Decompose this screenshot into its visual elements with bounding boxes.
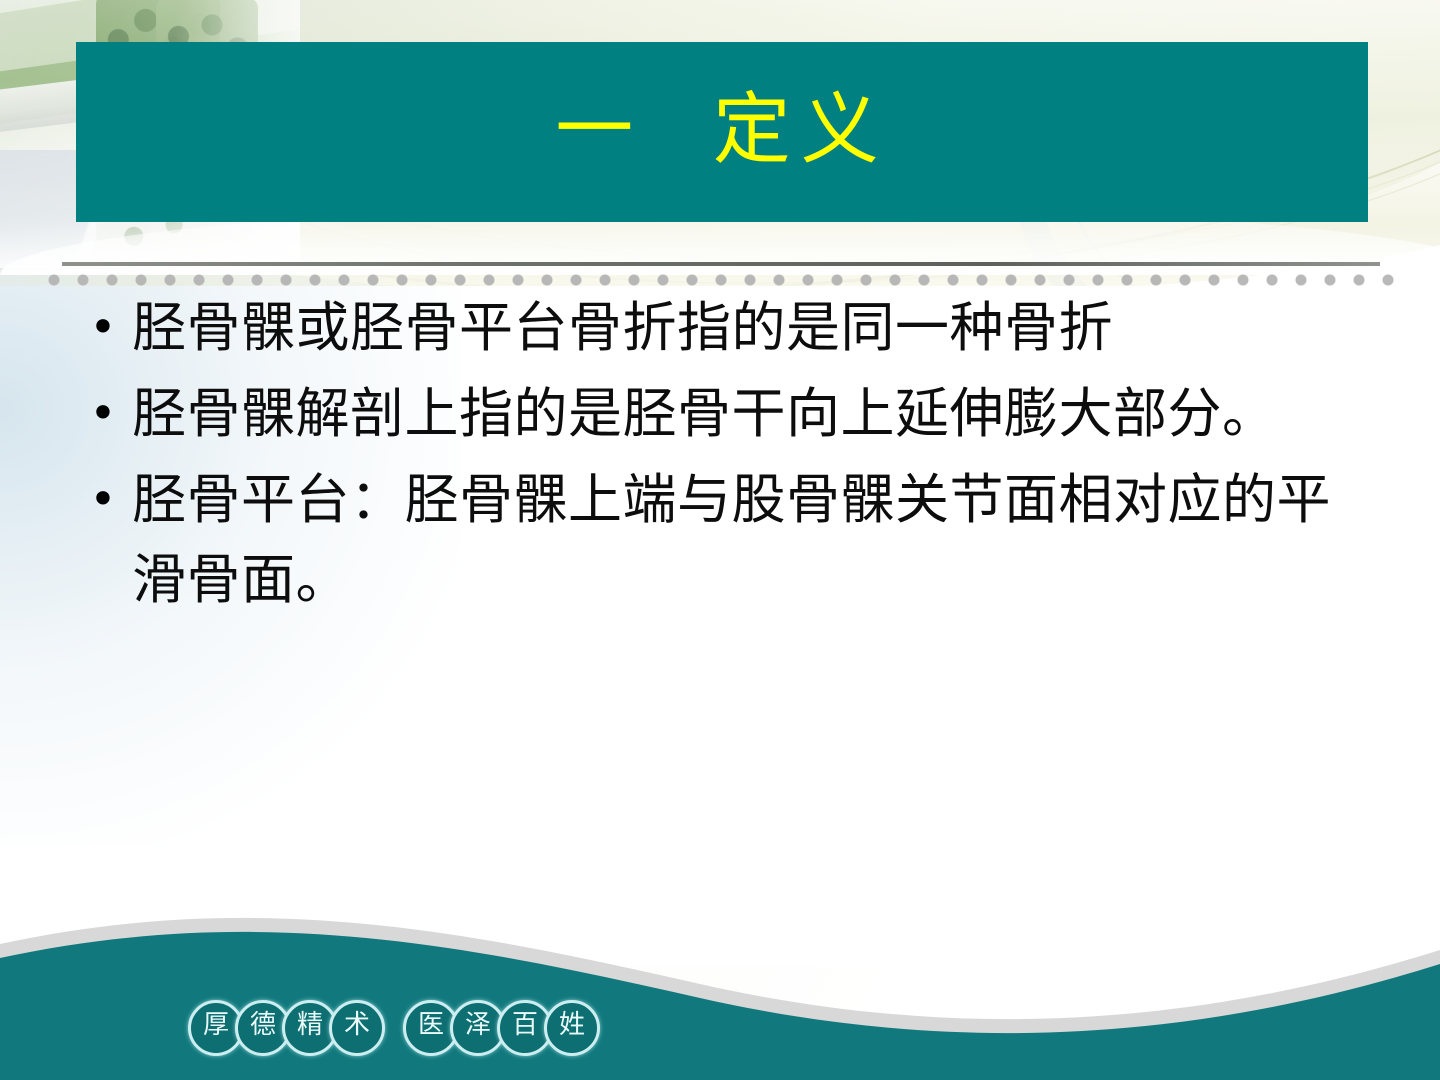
slide-footer: 厚 德 精 术 医 泽 百 姓 <box>0 880 1440 1080</box>
bullet-text: 胫骨髁解剖上指的是胫骨干向上延伸膨大部分。 <box>132 374 1374 454</box>
bullet-marker-icon: • <box>74 460 132 538</box>
logo-group-2: 医 泽 百 姓 <box>403 1000 600 1056</box>
hospital-motto-logo: 厚 德 精 术 医 泽 百 姓 <box>188 1000 600 1056</box>
presentation-slide: 一 定义 • 胫骨髁或胫骨平台骨折指的是同一种骨折 • 胫骨髁解剖上指的是胫骨干… <box>0 0 1440 1080</box>
list-item: • 胫骨髁解剖上指的是胫骨干向上延伸膨大部分。 <box>74 374 1374 454</box>
slide-title: 一 定义 <box>555 91 889 169</box>
bullet-marker-icon: • <box>74 374 132 452</box>
list-item: • 胫骨髁或胫骨平台骨折指的是同一种骨折 <box>74 288 1374 368</box>
slide-body-content: • 胫骨髁或胫骨平台骨折指的是同一种骨折 • 胫骨髁解剖上指的是胫骨干向上延伸膨… <box>74 288 1374 626</box>
bullet-text: 胫骨髁或胫骨平台骨折指的是同一种骨折 <box>132 288 1374 368</box>
slide-title-banner: 一 定义 <box>76 42 1368 222</box>
logo-char: 术 <box>329 1000 385 1056</box>
bullet-marker-icon: • <box>74 288 132 366</box>
bullet-text: 胫骨平台：胫骨髁上端与股骨髁关节面相对应的平滑骨面。 <box>132 460 1374 620</box>
logo-char: 姓 <box>544 1000 600 1056</box>
logo-group-1: 厚 德 精 术 <box>188 1000 385 1056</box>
header-separator-line <box>62 262 1380 266</box>
list-item: • 胫骨平台：胫骨髁上端与股骨髁关节面相对应的平滑骨面。 <box>74 460 1374 620</box>
header-separator-dots <box>48 272 1408 288</box>
